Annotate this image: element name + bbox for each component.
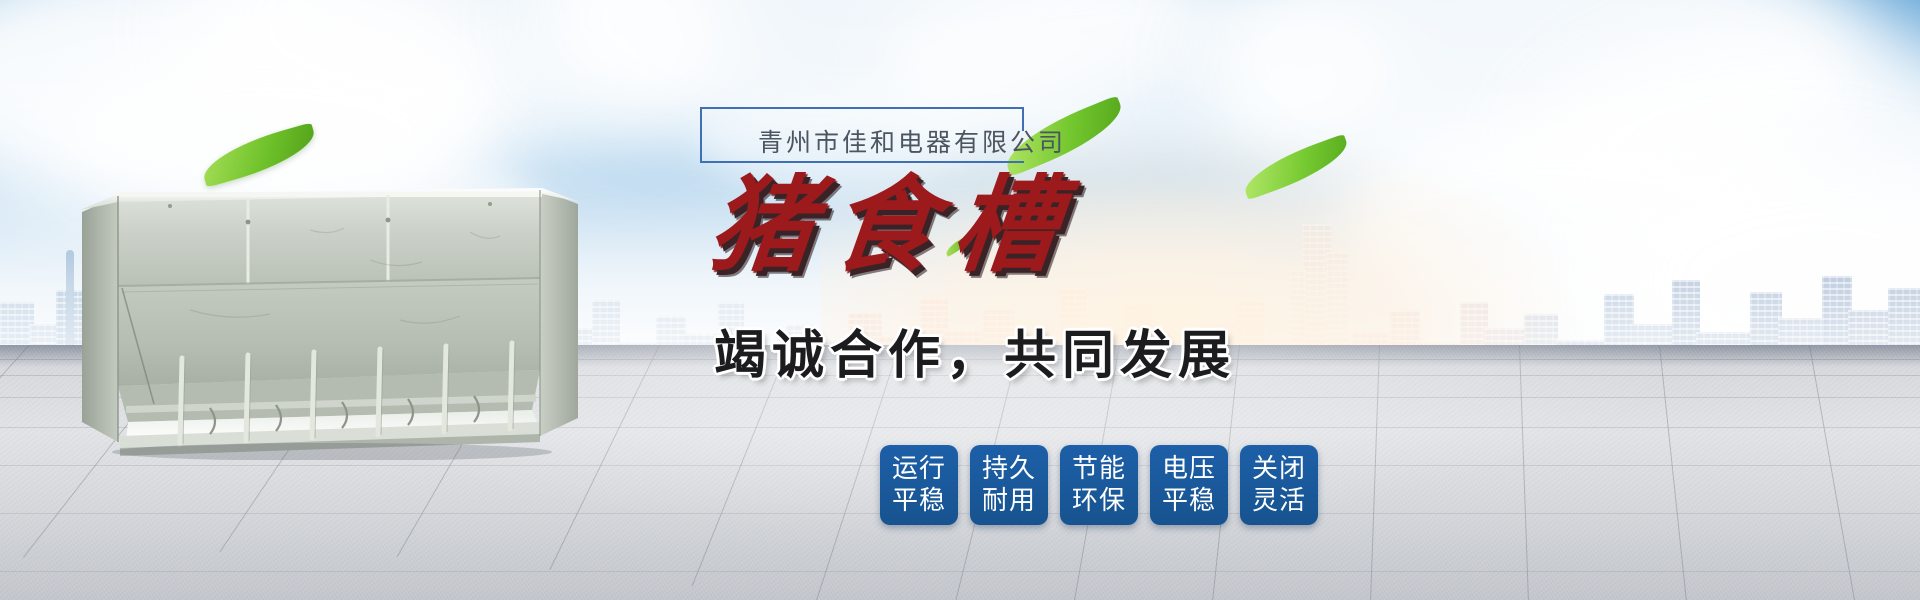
product-image-pig-feeder-trough	[70, 160, 590, 460]
badge-line-1: 节能	[1072, 453, 1126, 485]
slogan-subtitle: 竭诚合作，共同发展	[714, 327, 1454, 385]
company-name: 青州市佳和电器有限公司	[758, 123, 1058, 159]
promo-banner: 青州市佳和电器有限公司 猪食槽 竭诚合作，共同发展 运行 平稳 持久 耐用 节能…	[0, 0, 1920, 600]
page-title: 猪食槽	[705, 173, 1456, 277]
badge-line-1: 运行	[892, 453, 946, 485]
badge-line-2: 环保	[1072, 485, 1126, 517]
feature-badge[interactable]: 运行 平稳	[880, 445, 958, 525]
feature-badge[interactable]: 关闭 灵活	[1240, 445, 1318, 525]
feature-badge-list: 运行 平稳 持久 耐用 节能 环保 电压 平稳 关闭 灵活	[880, 445, 1318, 525]
badge-line-1: 关闭	[1252, 453, 1306, 485]
banner-text-block: 青州市佳和电器有限公司 猪食槽 竭诚合作，共同发展 运行 平稳 持久 耐用 节能…	[700, 95, 1460, 555]
feature-badge[interactable]: 节能 环保	[1060, 445, 1138, 525]
badge-line-1: 持久	[982, 453, 1036, 485]
badge-line-1: 电压	[1162, 453, 1216, 485]
feature-badge[interactable]: 电压 平稳	[1150, 445, 1228, 525]
badge-line-2: 耐用	[982, 485, 1036, 517]
badge-line-2: 平稳	[1162, 485, 1216, 517]
badge-line-2: 平稳	[892, 485, 946, 517]
badge-line-2: 灵活	[1252, 485, 1306, 517]
feature-badge[interactable]: 持久 耐用	[970, 445, 1048, 525]
